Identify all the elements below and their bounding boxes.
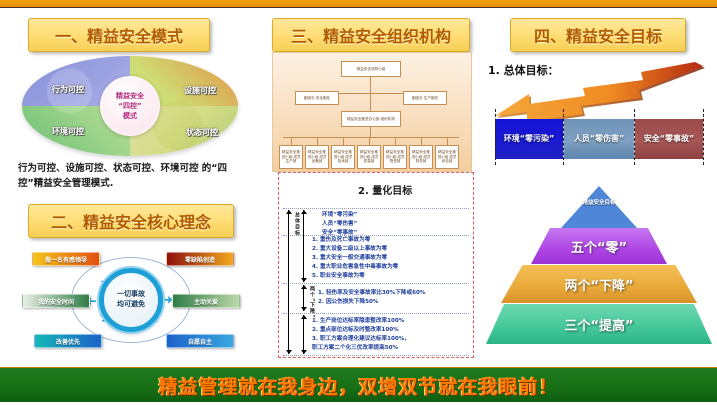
goal-pyramid: 精益安全目标 五个“零” 两个“下降” 三个“提高” <box>486 186 712 358</box>
quant-axis-inner-a <box>303 210 304 282</box>
org-tick-2 <box>317 137 318 145</box>
slide-root: 一、精益安全模式 行为可控 设施可控 环境可控 状态可控 精益安全 “四控” 模… <box>0 0 717 405</box>
org-node-level1: 精益安全领导小组 <box>341 61 401 77</box>
quadrant-label-environment: 环境可控 <box>52 126 84 137</box>
quant-item-u1: 1. 生产岗位达标率隐患整改率100% <box>312 317 410 326</box>
goal-divider-2 <box>563 109 564 165</box>
quadrant-label-behavior: 行为可控 <box>52 84 84 95</box>
radial-center-line2: 均可避免 <box>117 300 145 310</box>
org-tick-6 <box>421 137 422 145</box>
section1-header-label: 一、精益安全模式 <box>55 23 183 47</box>
concept-node-improvement-first: 改善优先 <box>34 334 102 348</box>
quant-item-z3: 3. 重大安全一般交通事故为零 <box>312 254 398 263</box>
quant-item-z4: 4. 重大职业危害急性中毒事故为零 <box>312 263 398 272</box>
ellipse-center-line3: 模式 <box>123 111 137 121</box>
ellipse-center-line2: “四控” <box>118 101 141 111</box>
org-node-leaf-2: 精益安全推进小组 成员 设备部 <box>305 145 329 169</box>
section1-header: 一、精益安全模式 <box>28 18 210 52</box>
pyramid-tier-top-label: 精益安全目标 <box>582 200 615 207</box>
section4-header-label: 四、精益安全目标 <box>534 23 662 47</box>
quant-item-d2: 2. 因公伤损失下降50% <box>318 298 425 307</box>
goal-divider-1 <box>495 109 496 165</box>
bottom-slogan-banner: 精益管理就在我身边，双增双节就在我眼前！ <box>0 367 717 404</box>
quant-item-z2: 2. 重大设备二级以上事故为零 <box>312 245 398 254</box>
org-chart: 精益安全领导小组 副组长 安全副总 副组长 生产副总 精益安全推进办公室 组织机… <box>272 52 472 172</box>
pyramid-tier-two-down: 两个“下降” <box>501 265 697 303</box>
ellipse-center-line1: 精益安全 <box>116 91 144 101</box>
section2-header-label: 二、精益安全核心理念 <box>51 209 211 233</box>
overall-goal-box-environment: 环境“零污染” <box>495 119 563 159</box>
quant-axis-inner-c <box>303 315 304 354</box>
org-node-level2-right: 副组长 生产副总 <box>403 91 447 105</box>
descending-arrow-icon <box>491 62 707 122</box>
concept-node-zero-defect: 零缺陷创造 <box>166 252 234 266</box>
quant-item-d1: 1. 轻伤率及安全事故率比30%下降或60% <box>318 289 425 298</box>
org-line-h-level4 <box>283 137 459 138</box>
org-node-leaf-6: 精益安全推进小组 成员 财务部 <box>409 145 433 169</box>
org-line-v-level3 <box>370 127 371 137</box>
overall-goal-box-safety: 安全“零事故” <box>635 119 703 159</box>
quant-item-z5: 5. 职业安全事故为零 <box>312 272 398 281</box>
org-node-leaf-1: 精益安全推进小组 成员 生产部 <box>279 145 303 169</box>
org-tick-1 <box>291 137 292 145</box>
org-node-level3: 精益安全推进办公室 组织机构 <box>341 111 401 127</box>
quant-axis-inner-b <box>303 285 304 311</box>
quant-sep-5 <box>283 355 469 356</box>
quant-sep-3 <box>283 283 469 284</box>
goal-divider-3 <box>634 109 635 165</box>
quant-list-overall: 环境“零污染” 人员“零伤害” 安全“零事故” <box>322 211 357 238</box>
section4-header: 四、精益安全目标 <box>510 18 686 52</box>
quant-axis-outer <box>288 210 289 354</box>
pyramid-tier-five-zero: 五个“零” <box>531 228 667 264</box>
overall-goal-box-personnel: 人员“零伤害” <box>564 119 634 159</box>
quant-item-u4: 职工方案二个化三优改率提高50% <box>312 344 410 353</box>
section1-caption: 行为可控、设施可控、状态可控、环境可控 的“四控”精益安全管理模式. <box>18 162 243 191</box>
org-node-leaf-5: 精益安全推进小组 成员 物资部 <box>383 145 407 169</box>
org-tick-3 <box>343 137 344 145</box>
goal-divider-4 <box>703 109 704 165</box>
quadrant-label-facility: 设施可控 <box>184 85 216 96</box>
section3-header-label: 三、精益安全组织机构 <box>291 23 451 47</box>
quant-list-three-up: 1. 生产岗位达标率隐患整改率100% 2. 重点部位达标及时整改率100% 3… <box>312 317 410 353</box>
org-node-leaf-3: 精益安全推进小组 成员 技术部 <box>331 145 355 169</box>
org-tick-4 <box>369 137 370 145</box>
section2-header: 二、精益安全核心理念 <box>28 204 234 238</box>
quant-item-o1: 环境“零污染” <box>322 211 357 220</box>
quant-item-u2: 2. 重点部位达标及时整改率100% <box>312 326 410 335</box>
quant-axis-label-two-down: 两个“下降” <box>309 286 316 319</box>
four-control-ellipse-diagram: 行为可控 设施可控 环境可控 状态可控 精益安全 “四控” 模式 <box>22 56 238 156</box>
org-tick-7 <box>447 137 448 145</box>
pyramid-tier-three-up: 三个“提高” <box>486 304 712 344</box>
section3-header: 三、精益安全组织机构 <box>272 18 470 52</box>
quant-goal-title: 2. 量化目标 <box>358 182 412 197</box>
quant-list-two-down: 1. 轻伤率及安全事故率比30%下降或60% 2. 因公伤损失下降50% <box>318 289 425 307</box>
concept-node-leadership: 做一名有感领导 <box>32 252 100 266</box>
org-tick-5 <box>395 137 396 145</box>
org-node-leaf-7: 精益安全推进小组 成员 综合部 <box>435 145 459 169</box>
ellipse-center-circle: 精益安全 “四控” 模式 <box>100 76 160 136</box>
concept-node-my-safety-time: 我的安全时间 <box>22 294 90 308</box>
overall-goal-arrow-chart: 环境“零污染” 人员“零伤害” 安全“零事故” <box>487 60 712 165</box>
concept-node-active-care: 主动关爱 <box>172 294 240 308</box>
top-border-bar <box>0 0 717 8</box>
quant-item-o2: 人员“零伤害” <box>322 220 357 229</box>
concept-node-voluntary: 自愿自主 <box>166 334 234 348</box>
quant-item-z1: 1. 重伤及死亡事故为零 <box>312 236 398 245</box>
quant-item-u3: 3. 职工方案合理化建议达标率100%， <box>312 335 410 344</box>
radial-center-circle: 一切事故 均可避免 <box>99 268 163 332</box>
bottom-slogan-text: 精益管理就在我身边，双增双节就在我眼前！ <box>158 372 558 399</box>
core-concept-radial-diagram: ➜ ➜ ➜ ➜ ➜ ➜ 一切事故 均可避免 做一名有感领导 零缺陷创造 我的安全… <box>22 250 240 350</box>
quant-list-five-zero: 1. 重伤及死亡事故为零 2. 重大设备二级以上事故为零 3. 重大安全一般交通… <box>312 236 398 281</box>
org-node-leaf-4: 精益安全推进小组 成员 质量部 <box>357 145 381 169</box>
quant-axis-label-overall: 总体目标 <box>294 212 301 236</box>
quant-sep-1 <box>283 208 469 209</box>
org-node-level2-left: 副组长 安全副总 <box>295 91 339 105</box>
radial-center-line1: 一切事故 <box>117 290 145 300</box>
quadrant-label-status: 状态可控 <box>186 127 218 138</box>
